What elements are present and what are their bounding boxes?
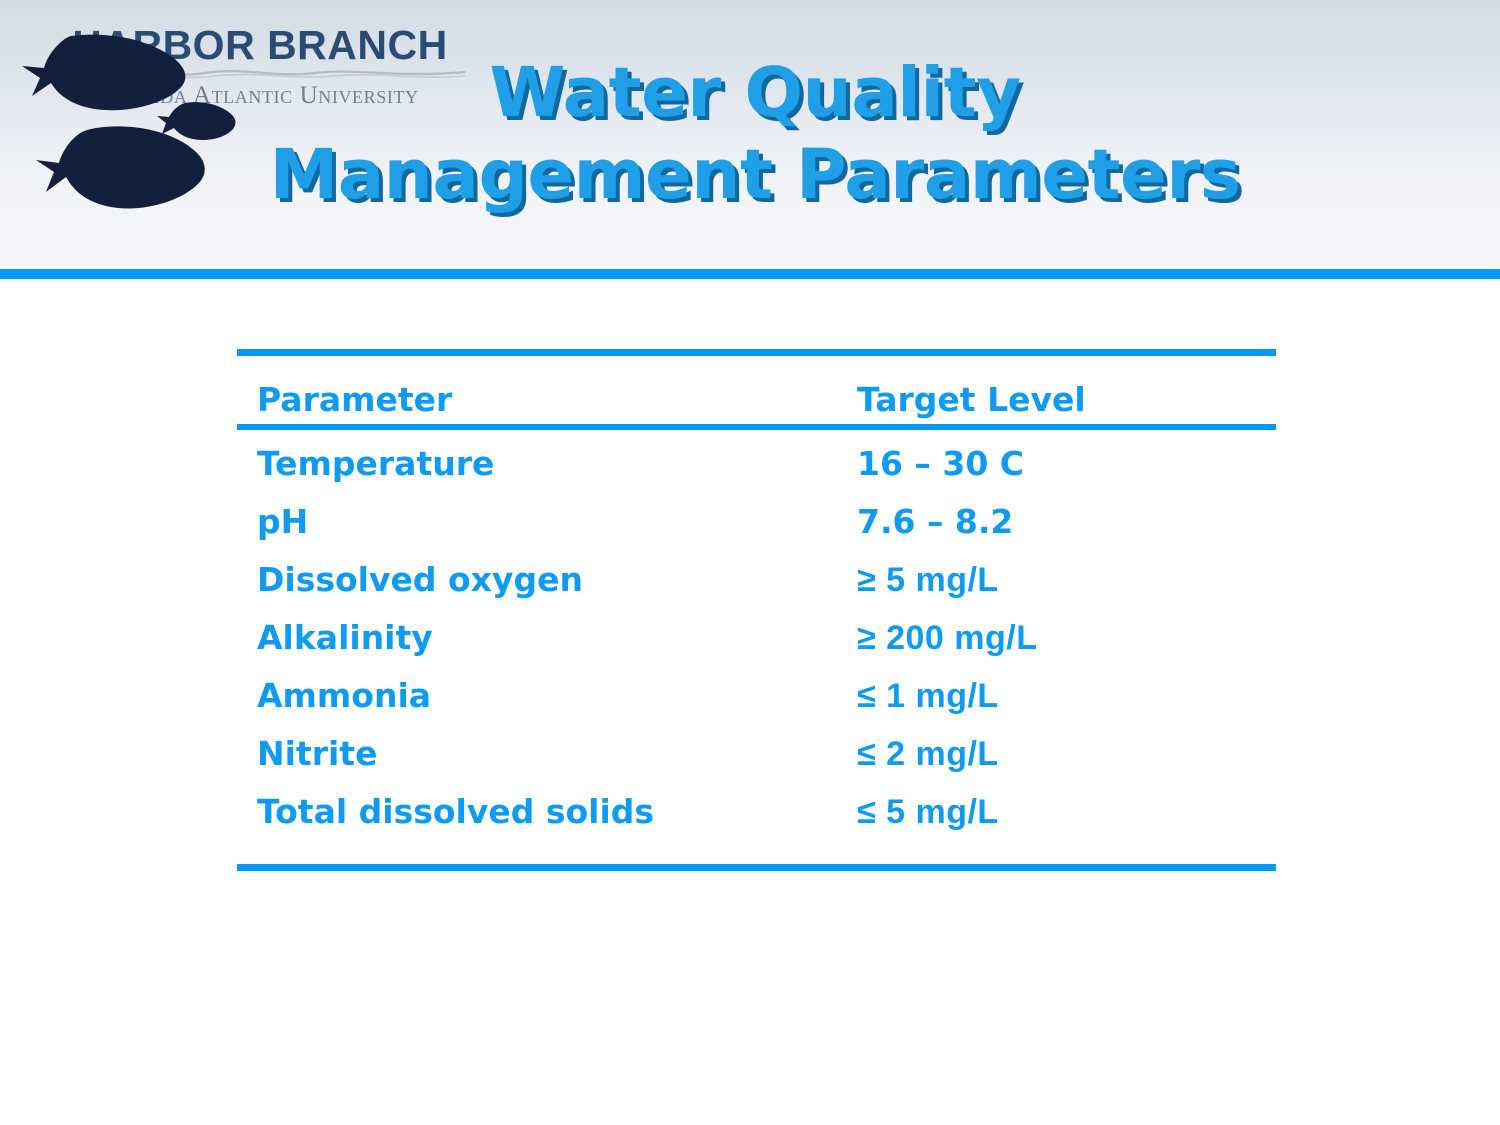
parameter-target-level: 16 – 30 C (857, 444, 1024, 484)
parameter-name: Ammonia (257, 676, 431, 716)
table-row: Alkalinity ≥ 200 mg/L (237, 618, 1276, 676)
table-row: Dissolved oxygen ≥ 5 mg/L (237, 560, 1276, 618)
page-title-line-2: Management Parameters (250, 134, 1260, 216)
parameter-name: Total dissolved solids (257, 792, 654, 832)
parameter-target-level: ≤ 5 mg/L (857, 792, 999, 832)
parameter-target-level: ≤ 2 mg/L (857, 734, 999, 774)
parameter-name: Nitrite (257, 734, 377, 774)
parameter-name: Temperature (257, 444, 494, 484)
table-row: pH 7.6 – 8.2 (237, 502, 1276, 560)
table-bottom-rule (237, 864, 1276, 871)
parameter-target-level: ≥ 5 mg/L (857, 560, 999, 600)
parameter-target-level: ≥ 200 mg/L (857, 618, 1038, 658)
parameter-name: pH (257, 502, 308, 542)
table-row: Ammonia ≤ 1 mg/L (237, 676, 1276, 734)
table-row: Temperature 16 – 30 C (237, 444, 1276, 502)
table-row: Nitrite ≤ 2 mg/L (237, 734, 1276, 792)
column-header-target-level: Target Level (857, 382, 1086, 418)
page-title-line-1: Water Quality (250, 52, 1260, 134)
parameter-name: Alkalinity (257, 618, 433, 658)
table-header-row: Parameter Target Level (237, 356, 1276, 424)
table-row: Total dissolved solids ≤ 5 mg/L (237, 792, 1276, 850)
table-top-rule (237, 349, 1276, 356)
parameter-name: Dissolved oxygen (257, 560, 583, 600)
table-body: Temperature 16 – 30 C pH 7.6 – 8.2 Disso… (237, 430, 1276, 864)
water-quality-parameters-table: Parameter Target Level Temperature 16 – … (237, 349, 1276, 871)
parameter-target-level: ≤ 1 mg/L (857, 676, 999, 716)
page-title: Water Quality Management Parameters (250, 52, 1260, 216)
header-accent-rule (0, 269, 1500, 279)
parameter-target-level: 7.6 – 8.2 (857, 502, 1013, 542)
column-header-parameter: Parameter (257, 382, 452, 418)
fish-icon (30, 120, 210, 216)
